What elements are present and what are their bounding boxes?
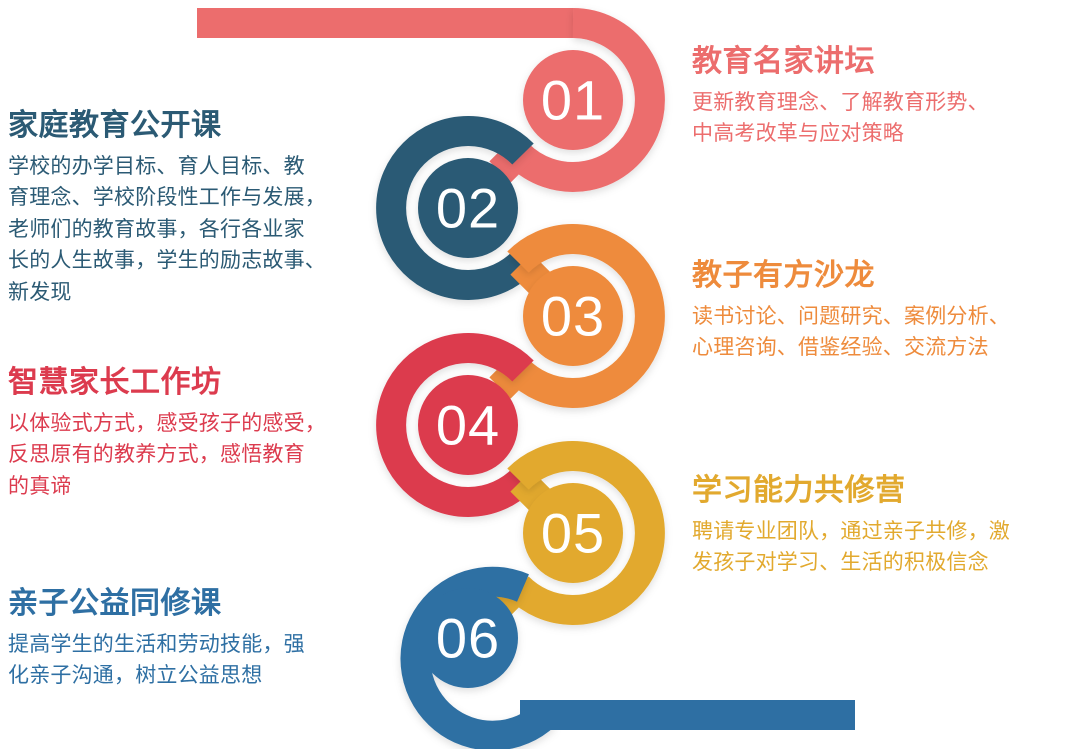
item-04-body-line: 以体验式方式，感受孩子的感受， [8,412,326,435]
lead-out-bar [520,700,855,730]
item-01-body-line: 更新教育理念、了解教育形势、 [692,91,989,114]
ring-02-number: 02 [436,177,500,240]
item-06-title: 亲子公益同修课 [8,586,380,623]
item-05-body-line: 聘请专业团队，通过亲子共修，激 [692,520,1010,543]
ring-01-number: 01 [541,69,605,132]
item-04-body-line: 的真谛 [8,475,72,498]
node-05[interactable]: 05 [518,456,650,610]
item-05-title: 学习能力共修营 [692,473,1072,510]
item-01-body-line: 中高考改革与应对策略 [692,122,904,145]
item-03-body: 读书讨论、问题研究、案例分析、 心理咨询、借鉴经验、交流方法 [692,301,1072,364]
item-03-text-block: 教子有方沙龙 读书讨论、问题研究、案例分析、 心理咨询、借鉴经验、交流方法 [692,258,1072,364]
node-04[interactable]: 04 [391,348,523,502]
item-01-title: 教育名家讲坛 [692,44,1072,81]
item-02-title: 家庭教育公开课 [8,108,380,145]
item-03-body-line: 读书讨论、问题研究、案例分析、 [692,305,1010,328]
item-05-body: 聘请专业团队，通过亲子共修，激 发孩子对学习、生活的积极信念 [692,516,1072,579]
ring-05-number: 05 [541,502,605,565]
item-02-text-block: 家庭教育公开课 学校的办学目标、育人目标、教 育理念、学校阶段性工作与发展， 老… [8,108,380,308]
ring-03-number: 03 [541,285,605,348]
item-02-body-line: 老师们的教育故事，各行各业家 [8,218,305,241]
item-02-body-line: 学校的办学目标、育人目标、教 [8,155,305,178]
item-06-body-line: 提高学生的生活和劳动技能，强 [8,633,305,656]
item-06-body-line: 化亲子沟通，树立公益思想 [8,664,262,687]
ring-06-number: 06 [436,607,500,670]
item-06-text-block: 亲子公益同修课 提高学生的生活和劳动技能，强 化亲子沟通，树立公益思想 [8,586,380,692]
item-03-body-line: 心理咨询、借鉴经验、交流方法 [692,336,989,359]
item-04-text-block: 智慧家长工作坊 以体验式方式，感受孩子的感受， 反思原有的教养方式，感悟教育 的… [8,365,380,502]
node-02[interactable]: 02 [391,131,523,285]
item-01-text-block: 教育名家讲坛 更新教育理念、了解教育形势、 中高考改革与应对策略 [692,44,1072,150]
infographic-canvas: 01 02 03 04 [0,0,1080,749]
item-05-text-block: 学习能力共修营 聘请专业团队，通过亲子共修，激 发孩子对学习、生活的积极信念 [692,473,1072,579]
item-02-body-line: 新发现 [8,281,72,304]
node-03[interactable]: 03 [518,239,650,393]
ring-04-number: 04 [436,394,500,457]
item-03-title: 教子有方沙龙 [692,258,1072,295]
lead-in-bar [197,8,573,38]
item-01-body: 更新教育理念、了解教育形势、 中高考改革与应对策略 [692,87,1072,150]
item-06-body: 提高学生的生活和劳动技能，强 化亲子沟通，树立公益思想 [8,629,380,692]
item-04-body-line: 反思原有的教养方式，感悟教育 [8,443,305,466]
item-04-body: 以体验式方式，感受孩子的感受， 反思原有的教养方式，感悟教育 的真谛 [8,408,380,503]
item-02-body-line: 长的人生故事，学生的励志故事、 [8,249,326,272]
item-02-body-line: 育理念、学校阶段性工作与发展， [8,186,326,209]
item-05-body-line: 发孩子对学习、生活的积极信念 [692,551,989,574]
item-02-body: 学校的办学目标、育人目标、教 育理念、学校阶段性工作与发展， 老师们的教育故事，… [8,151,380,309]
item-04-title: 智慧家长工作坊 [8,365,380,402]
node-01[interactable]: 01 [518,23,650,177]
